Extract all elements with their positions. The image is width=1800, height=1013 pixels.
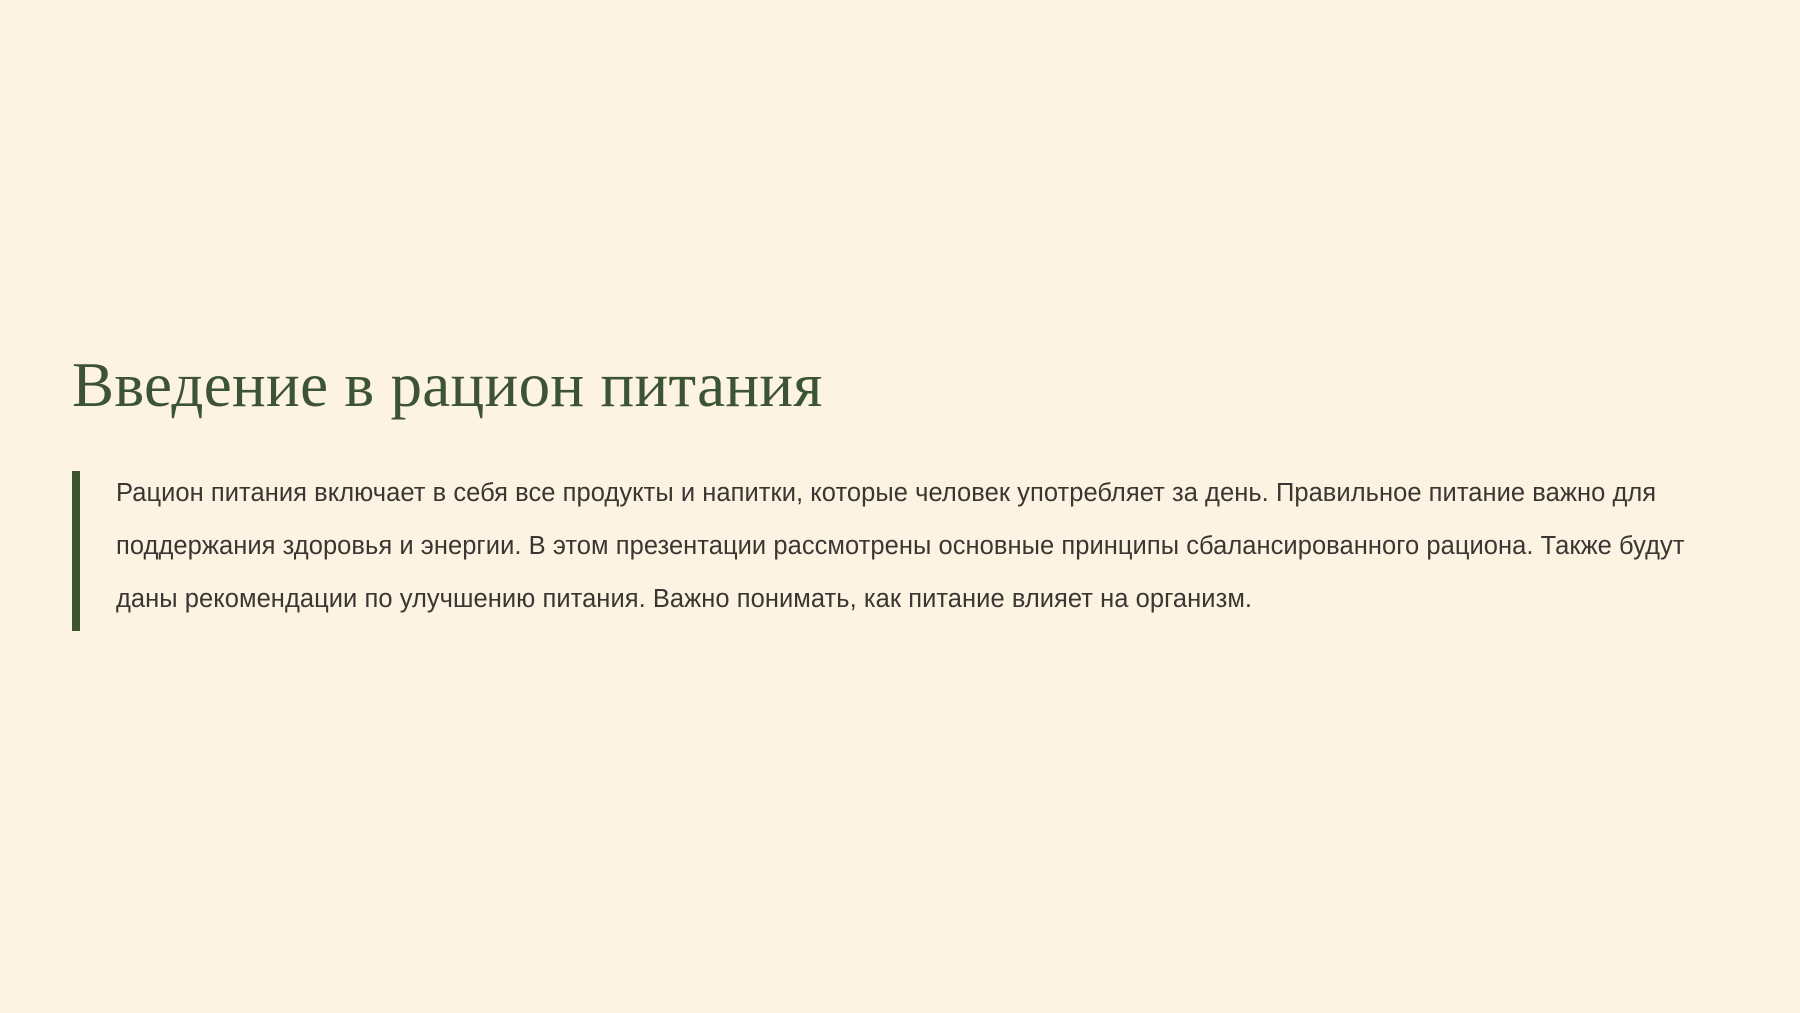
body-block: Рацион питания включает в себя все проду…	[72, 467, 1712, 626]
accent-bar	[72, 471, 80, 631]
slide-content: Введение в рацион питания Рацион питания…	[72, 352, 1712, 626]
slide-body-text: Рацион питания включает в себя все проду…	[116, 467, 1711, 626]
presentation-slide: Введение в рацион питания Рацион питания…	[0, 0, 1800, 1013]
slide-title: Введение в рацион питания	[72, 352, 1712, 419]
